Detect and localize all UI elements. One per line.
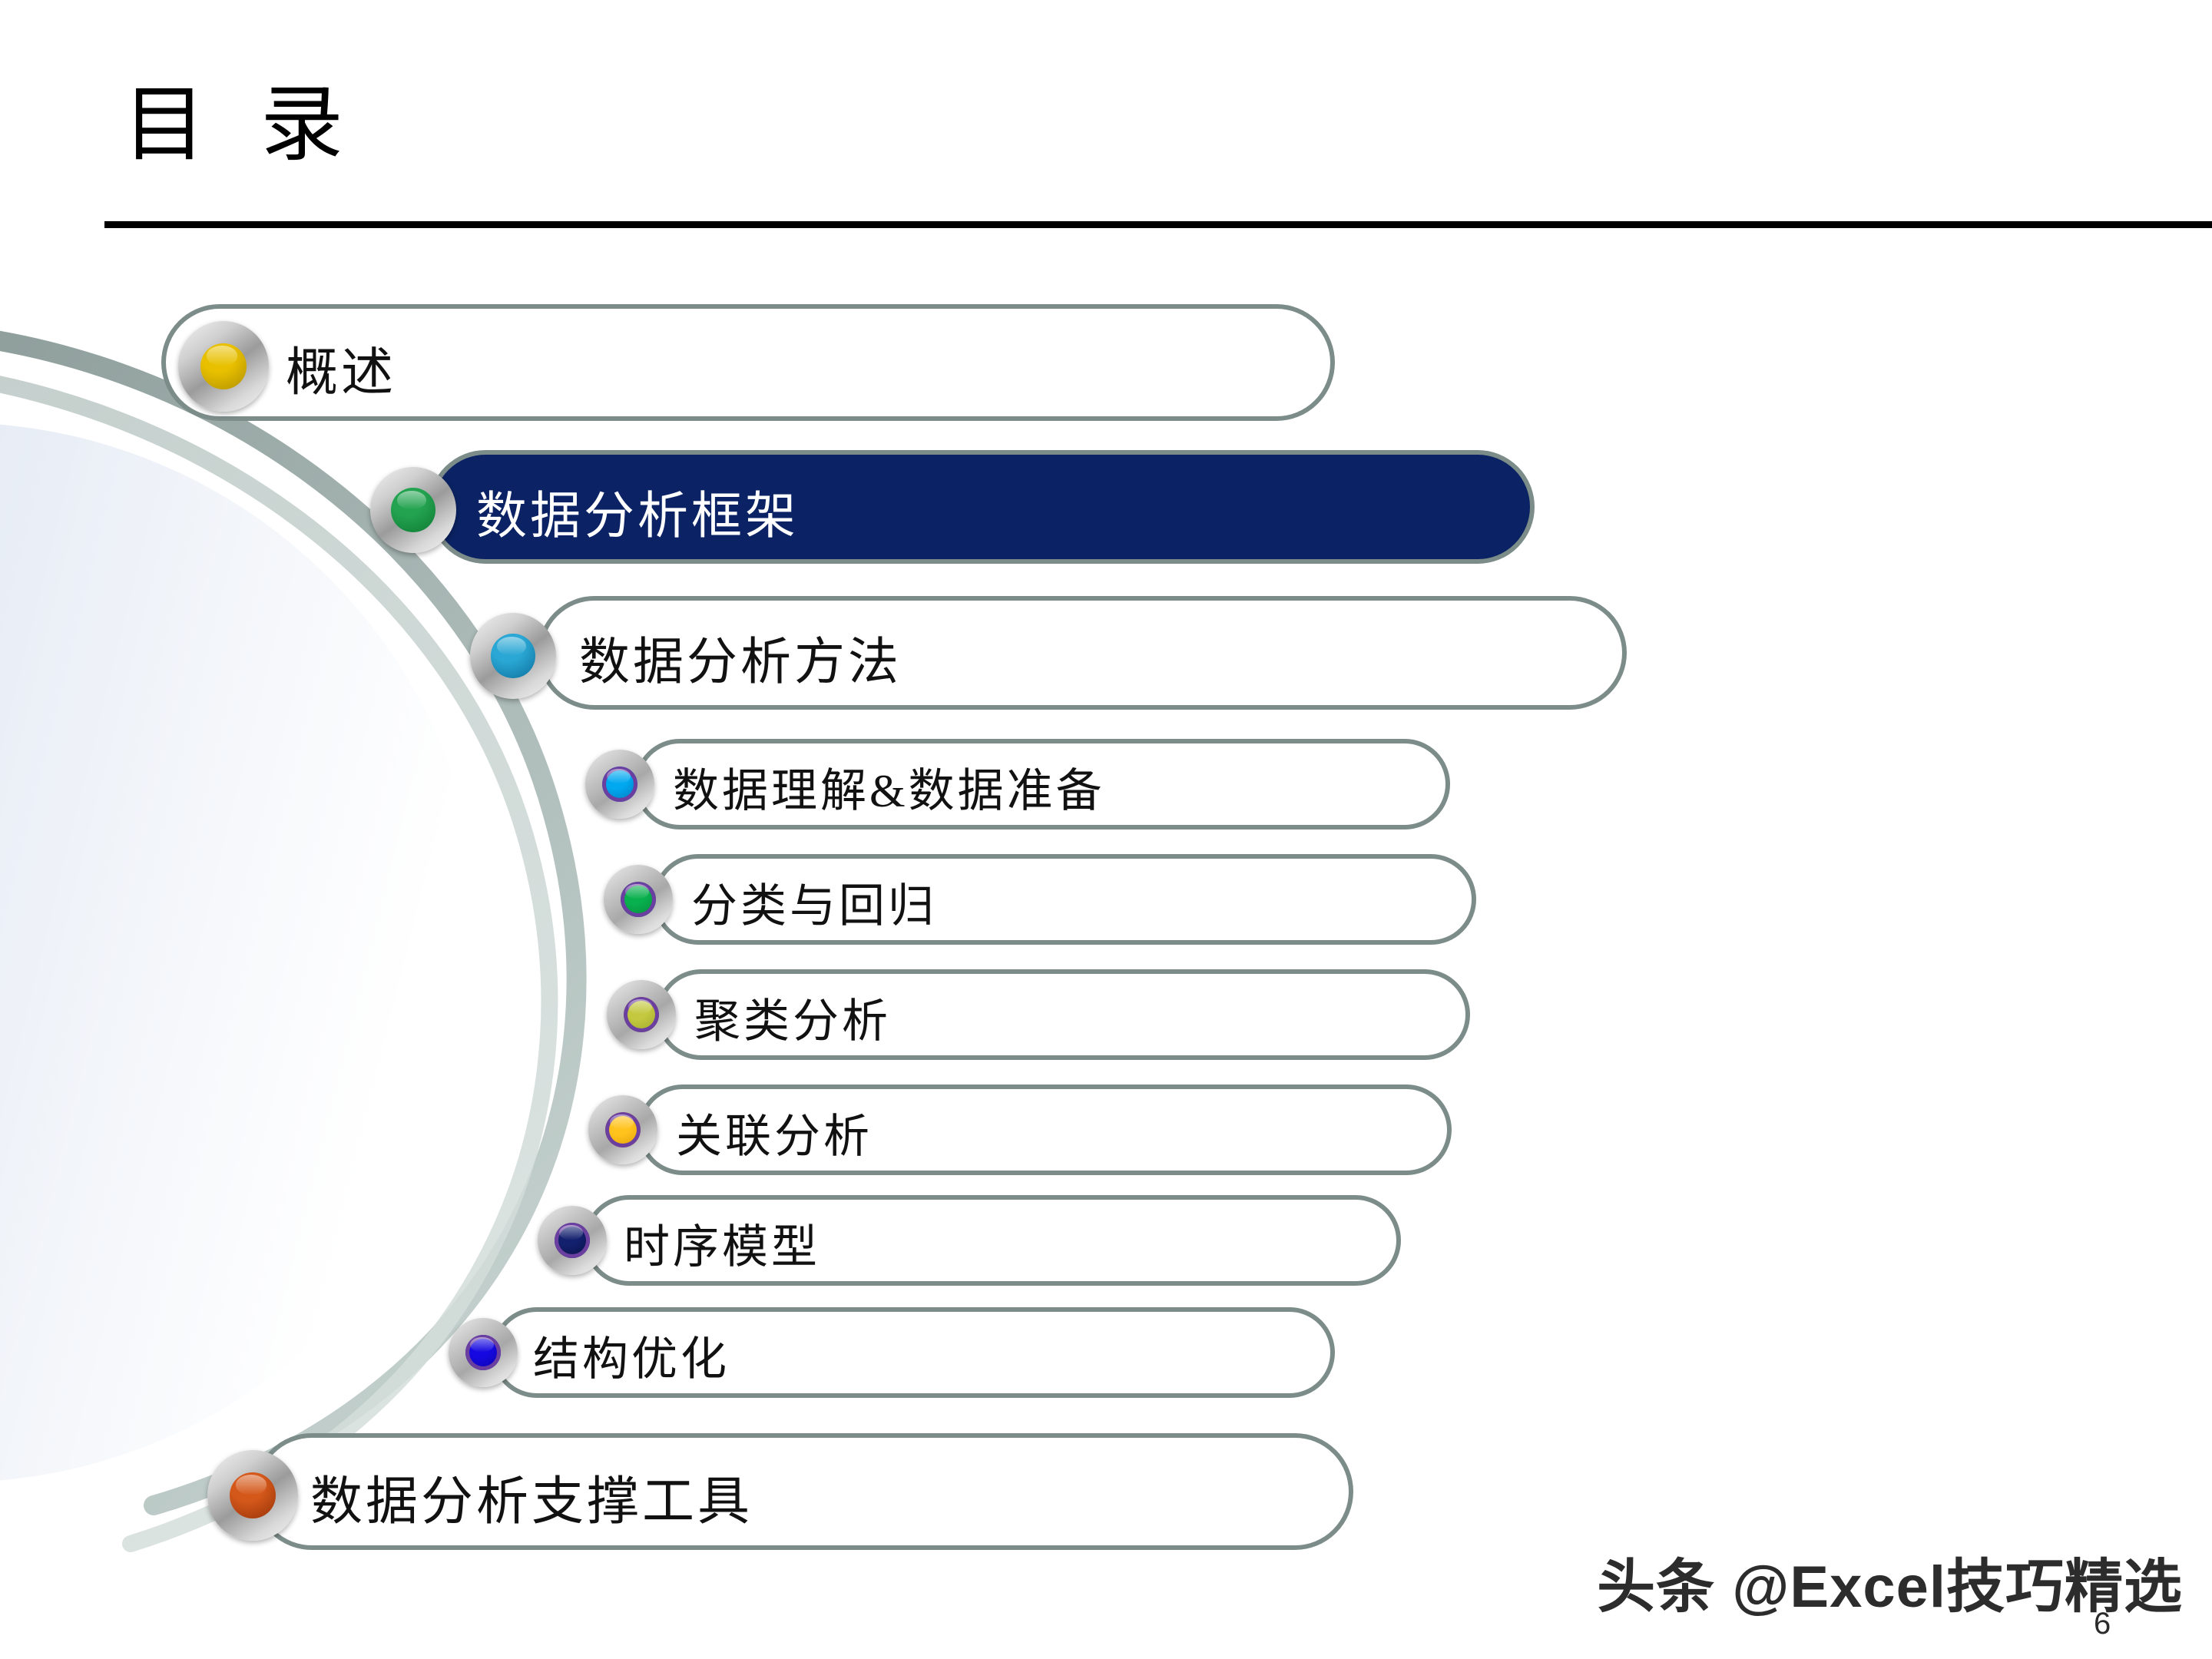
toc-item-bullet-sphere — [604, 865, 673, 934]
toc-item-bullet-sphere — [585, 750, 654, 819]
toc-item-bullet-sphere — [178, 321, 269, 412]
bullet-core — [491, 634, 535, 678]
toc-item-label: 数据分析方法 — [579, 614, 902, 711]
toc-item-label: 数据分析框架 — [476, 469, 799, 565]
toc-item-label: 关联分析 — [676, 1100, 873, 1174]
toc-item-label: 数据分析支撑工具 — [310, 1452, 753, 1551]
bullet-core — [230, 1472, 276, 1518]
bullet-core — [465, 1335, 501, 1370]
toc-item-bullet-sphere — [607, 980, 676, 1049]
toc-item-bullet-sphere — [370, 467, 456, 553]
title-divider — [104, 221, 2212, 228]
bullet-core — [555, 1223, 590, 1258]
bullet-core — [391, 488, 435, 532]
toc-item-bullet-sphere — [470, 613, 556, 699]
toc-item-bullet-sphere — [207, 1450, 298, 1541]
toc-item-label: 数据理解&数据准备 — [673, 754, 1105, 828]
background-decoration — [0, 0, 2212, 1659]
page-title: 目 录 — [123, 84, 360, 167]
bullet-core — [200, 343, 247, 389]
toc-item-bullet-sphere — [588, 1095, 657, 1164]
bullet-core — [624, 997, 659, 1032]
page-number: 6 — [2094, 1607, 2111, 1641]
toc-item-label: 聚类分析 — [694, 985, 891, 1058]
slide-canvas: 目 录 概述数据分析框架数据分析方法数据理解&数据准备分类与回归聚类分析关联分析… — [0, 0, 2212, 1659]
toc-item-label: 时序模型 — [624, 1210, 820, 1284]
toc-item-label: 结构优化 — [533, 1323, 730, 1396]
toc-item-label: 概述 — [286, 323, 396, 422]
toc-item-label: 分类与回归 — [691, 869, 937, 943]
toc-item-bullet-sphere — [538, 1206, 607, 1275]
background-soft-circle — [0, 422, 484, 1482]
toc-item-bullet-sphere — [449, 1318, 518, 1387]
bullet-core — [602, 767, 637, 802]
bullet-core — [621, 882, 656, 917]
bullet-core — [605, 1112, 641, 1147]
